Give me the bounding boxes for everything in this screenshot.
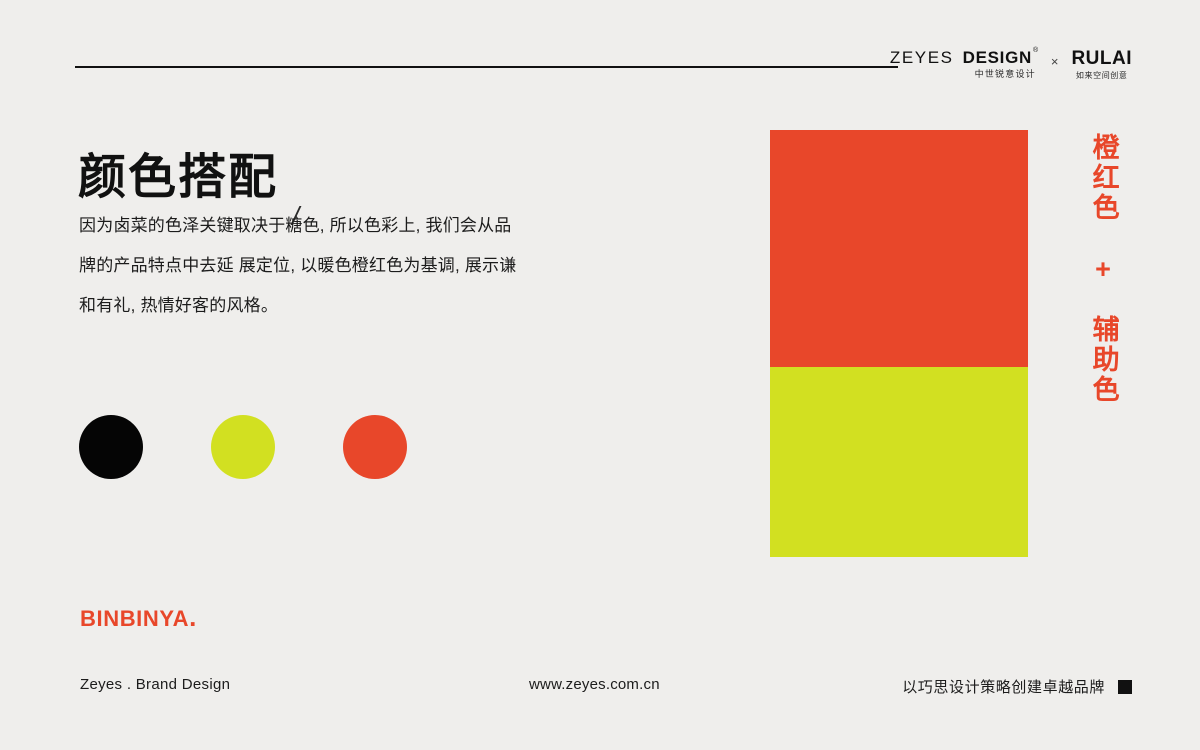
- body-line: 和有礼, 热情好客的风格。: [79, 286, 619, 326]
- footer-studio-name: Zeyes . Brand Design: [80, 676, 230, 693]
- vertical-label-primary: 橙红色: [1088, 133, 1117, 223]
- footer-website-url[interactable]: www.zeyes.com.cn: [529, 676, 660, 693]
- rulai-wordmark: RULAI: [1071, 49, 1132, 68]
- body-line: 牌的产品特点中去延 展定位, 以暖色橙红色为基调, 展示谦: [79, 246, 619, 286]
- color-block-stack: [770, 130, 1028, 557]
- zeyes-logo-subtitle: 中世锐意设计: [975, 70, 1036, 79]
- binbinya-brandmark: BINBINYA.: [80, 604, 197, 632]
- rulai-logo: RULAI 如来空间创意: [1071, 49, 1132, 80]
- color-block-secondary: [770, 367, 1028, 557]
- footer-tagline: 以巧思设计策略创建卓越品牌: [902, 676, 1105, 697]
- body-copy: 因为卤菜的色泽关键取决于糖色, 所以色彩上, 我们会从品 牌的产品特点中去延 展…: [79, 206, 619, 326]
- page-title: 颜色搭配: [78, 154, 278, 202]
- registered-trademark-icon: ®: [1033, 47, 1039, 54]
- body-line: 因为卤菜的色泽关键取决于糖色, 所以色彩上, 我们会从品: [79, 206, 619, 246]
- color-block-primary: [770, 130, 1028, 367]
- swatch-orange-red: [343, 415, 407, 479]
- logo-lockup: ZEYES DESIGN® 中世锐意设计 × RULAI 如来空间创意: [890, 44, 1132, 84]
- swatch-black: [79, 415, 143, 479]
- brandmark-text: BINBINYA: [80, 606, 189, 631]
- swatch-chartreuse: [211, 415, 275, 479]
- footer-tagline-group: 以巧思设计策略创建卓越品牌: [902, 676, 1132, 697]
- vertical-label-plus-icon: +: [1095, 256, 1111, 283]
- zeyes-logo-wordmark: ZEYES DESIGN®: [890, 49, 1038, 66]
- design-word: DESIGN®: [963, 49, 1038, 66]
- rulai-logo-subtitle: 如来空间创意: [1076, 72, 1128, 80]
- slide-canvas: ZEYES DESIGN® 中世锐意设计 × RULAI 如来空间创意 颜色搭配…: [0, 0, 1200, 750]
- header-divider-rule: [75, 66, 898, 68]
- vertical-color-label: 橙红色 + 辅助色: [1082, 133, 1124, 405]
- zeyes-word: ZEYES: [890, 49, 954, 66]
- vertical-label-secondary: 辅助色: [1088, 315, 1117, 405]
- brandmark-dot: .: [189, 602, 197, 632]
- color-swatch-row: [79, 415, 407, 479]
- zeyes-design-logo: ZEYES DESIGN® 中世锐意设计: [890, 49, 1038, 79]
- footer-square-icon: [1118, 680, 1132, 694]
- logo-separator-x-icon: ×: [1051, 54, 1059, 75]
